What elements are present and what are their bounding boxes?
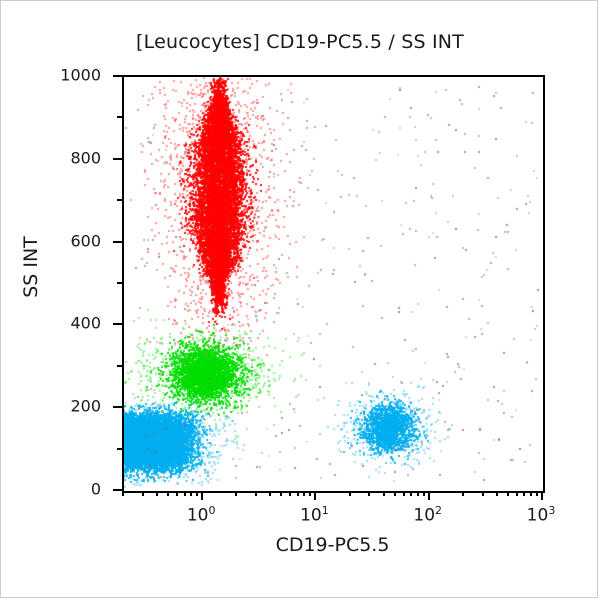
x-tick-label: 103 bbox=[527, 504, 556, 526]
y-tick-minor bbox=[117, 199, 122, 201]
x-axis-label: CD19-PC5.5 bbox=[122, 534, 543, 556]
y-tick-label: 0 bbox=[91, 480, 101, 499]
flow-cytometry-plot-canvas: [Leucocytes] CD19-PC5.5 / SS INT 0200400… bbox=[0, 0, 598, 598]
y-axis-label: SS INT bbox=[20, 197, 42, 337]
x-tick-minor bbox=[255, 491, 257, 496]
y-tick-major bbox=[113, 323, 122, 325]
x-tick-minor bbox=[536, 491, 538, 496]
x-tick-minor bbox=[383, 491, 385, 496]
y-tick-label: 1000 bbox=[60, 66, 101, 85]
x-tick-minor bbox=[349, 491, 351, 496]
x-tick-major bbox=[428, 491, 430, 500]
y-tick-major bbox=[113, 406, 122, 408]
y-tick-minor bbox=[117, 116, 122, 118]
x-tick-major bbox=[541, 491, 543, 500]
x-tick-minor bbox=[368, 491, 370, 496]
x-tick-minor bbox=[269, 491, 271, 496]
y-tick-major bbox=[113, 241, 122, 243]
y-tick-minor bbox=[117, 282, 122, 284]
x-tick-major bbox=[314, 491, 316, 500]
y-tick-label: 400 bbox=[70, 314, 101, 333]
x-tick-minor bbox=[289, 491, 291, 496]
y-tick-major bbox=[113, 158, 122, 160]
x-tick-minor bbox=[235, 491, 237, 496]
x-tick-minor bbox=[516, 491, 518, 496]
x-tick-label: 102 bbox=[413, 504, 442, 526]
x-tick-minor bbox=[523, 491, 525, 496]
y-tick-label: 200 bbox=[70, 397, 101, 416]
y-tick-minor bbox=[117, 448, 122, 450]
y-tick-major bbox=[113, 75, 122, 77]
y-tick-major bbox=[113, 489, 122, 491]
x-tick-minor bbox=[176, 491, 178, 496]
x-tick-minor bbox=[417, 491, 419, 496]
y-axis-tick-labels: 02004006008001000 bbox=[1, 75, 113, 489]
x-tick-label: 101 bbox=[300, 504, 329, 526]
y-tick-label: 800 bbox=[70, 148, 101, 167]
x-tick-minor bbox=[142, 491, 144, 496]
x-tick-minor bbox=[462, 491, 464, 496]
y-tick-minor bbox=[117, 365, 122, 367]
x-tick-minor bbox=[196, 491, 198, 496]
x-tick-minor bbox=[303, 491, 305, 496]
x-axis-ticks bbox=[122, 491, 543, 503]
x-tick-minor bbox=[482, 491, 484, 496]
y-tick-label: 600 bbox=[70, 231, 101, 250]
x-tick-minor bbox=[156, 491, 158, 496]
x-tick-minor bbox=[280, 491, 282, 496]
x-tick-minor bbox=[167, 491, 169, 496]
x-axis-tick-labels: 100101102103 bbox=[1, 504, 598, 530]
x-tick-minor bbox=[297, 491, 299, 496]
page-title: [Leucocytes] CD19-PC5.5 / SS INT bbox=[1, 31, 598, 53]
x-tick-minor bbox=[496, 491, 498, 496]
x-tick-minor bbox=[423, 491, 425, 496]
x-tick-minor bbox=[507, 491, 509, 496]
scatter-plot-area bbox=[124, 77, 543, 491]
x-tick-label: 100 bbox=[187, 504, 216, 526]
x-tick-minor bbox=[394, 491, 396, 496]
x-tick-minor bbox=[410, 491, 412, 496]
plot-frame bbox=[122, 75, 545, 493]
x-tick-minor bbox=[122, 491, 124, 496]
x-tick-minor bbox=[184, 491, 186, 496]
x-tick-major bbox=[201, 491, 203, 500]
y-axis-ticks bbox=[122, 75, 124, 491]
x-tick-minor bbox=[403, 491, 405, 496]
x-tick-minor bbox=[530, 491, 532, 496]
x-tick-minor bbox=[190, 491, 192, 496]
x-tick-minor bbox=[309, 491, 311, 496]
